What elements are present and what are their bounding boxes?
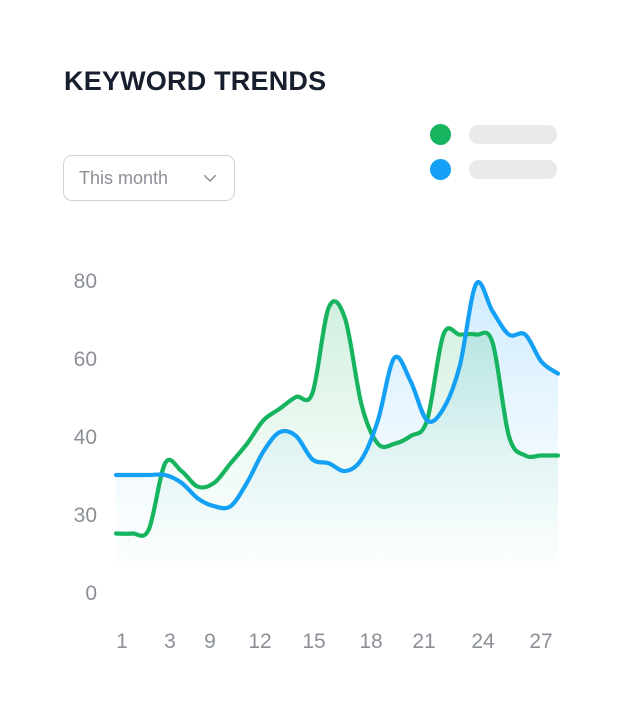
keyword-trends-card: KEYWORD TRENDS This month bbox=[0, 0, 622, 728]
x-tick-1: 1 bbox=[116, 630, 128, 653]
x-tick-15: 15 bbox=[302, 630, 325, 653]
x-tick-12: 12 bbox=[248, 630, 271, 653]
series-blue-line bbox=[116, 282, 558, 508]
period-dropdown-value: This month bbox=[79, 169, 168, 187]
x-tick-24: 24 bbox=[471, 630, 495, 653]
series-green-line bbox=[116, 301, 558, 536]
y-axis-ticks: 80 60 40 30 0 bbox=[74, 270, 97, 605]
chevron-down-icon bbox=[201, 169, 219, 187]
legend-dot-blue bbox=[430, 159, 451, 180]
x-tick-3: 3 bbox=[164, 630, 176, 653]
chart-legend bbox=[430, 124, 557, 180]
x-axis-ticks: 1 3 9 12 15 18 21 24 27 bbox=[116, 630, 553, 653]
legend-item-blue[interactable] bbox=[430, 159, 557, 180]
page-title: KEYWORD TRENDS bbox=[64, 66, 326, 97]
legend-label-placeholder-green bbox=[469, 125, 557, 144]
series-blue-area bbox=[116, 282, 558, 572]
x-tick-27: 27 bbox=[529, 630, 552, 653]
y-tick-40: 40 bbox=[74, 426, 97, 449]
x-tick-21: 21 bbox=[412, 630, 435, 653]
x-tick-9: 9 bbox=[204, 630, 216, 653]
chart-svg: 80 60 40 30 0 1 3 9 12 15 18 21 bbox=[0, 0, 622, 728]
y-tick-0: 0 bbox=[85, 582, 97, 605]
y-tick-30: 30 bbox=[74, 504, 97, 527]
series-areas bbox=[116, 282, 558, 572]
x-tick-18: 18 bbox=[359, 630, 382, 653]
legend-dot-green bbox=[430, 124, 451, 145]
legend-label-placeholder-blue bbox=[469, 160, 557, 179]
keyword-trends-chart: 80 60 40 30 0 1 3 9 12 15 18 21 bbox=[0, 0, 622, 728]
period-dropdown[interactable]: This month bbox=[63, 155, 235, 201]
y-tick-60: 60 bbox=[74, 348, 97, 371]
series-lines bbox=[116, 282, 558, 536]
series-green-area bbox=[116, 301, 558, 572]
legend-item-green[interactable] bbox=[430, 124, 557, 145]
y-tick-80: 80 bbox=[74, 270, 97, 293]
